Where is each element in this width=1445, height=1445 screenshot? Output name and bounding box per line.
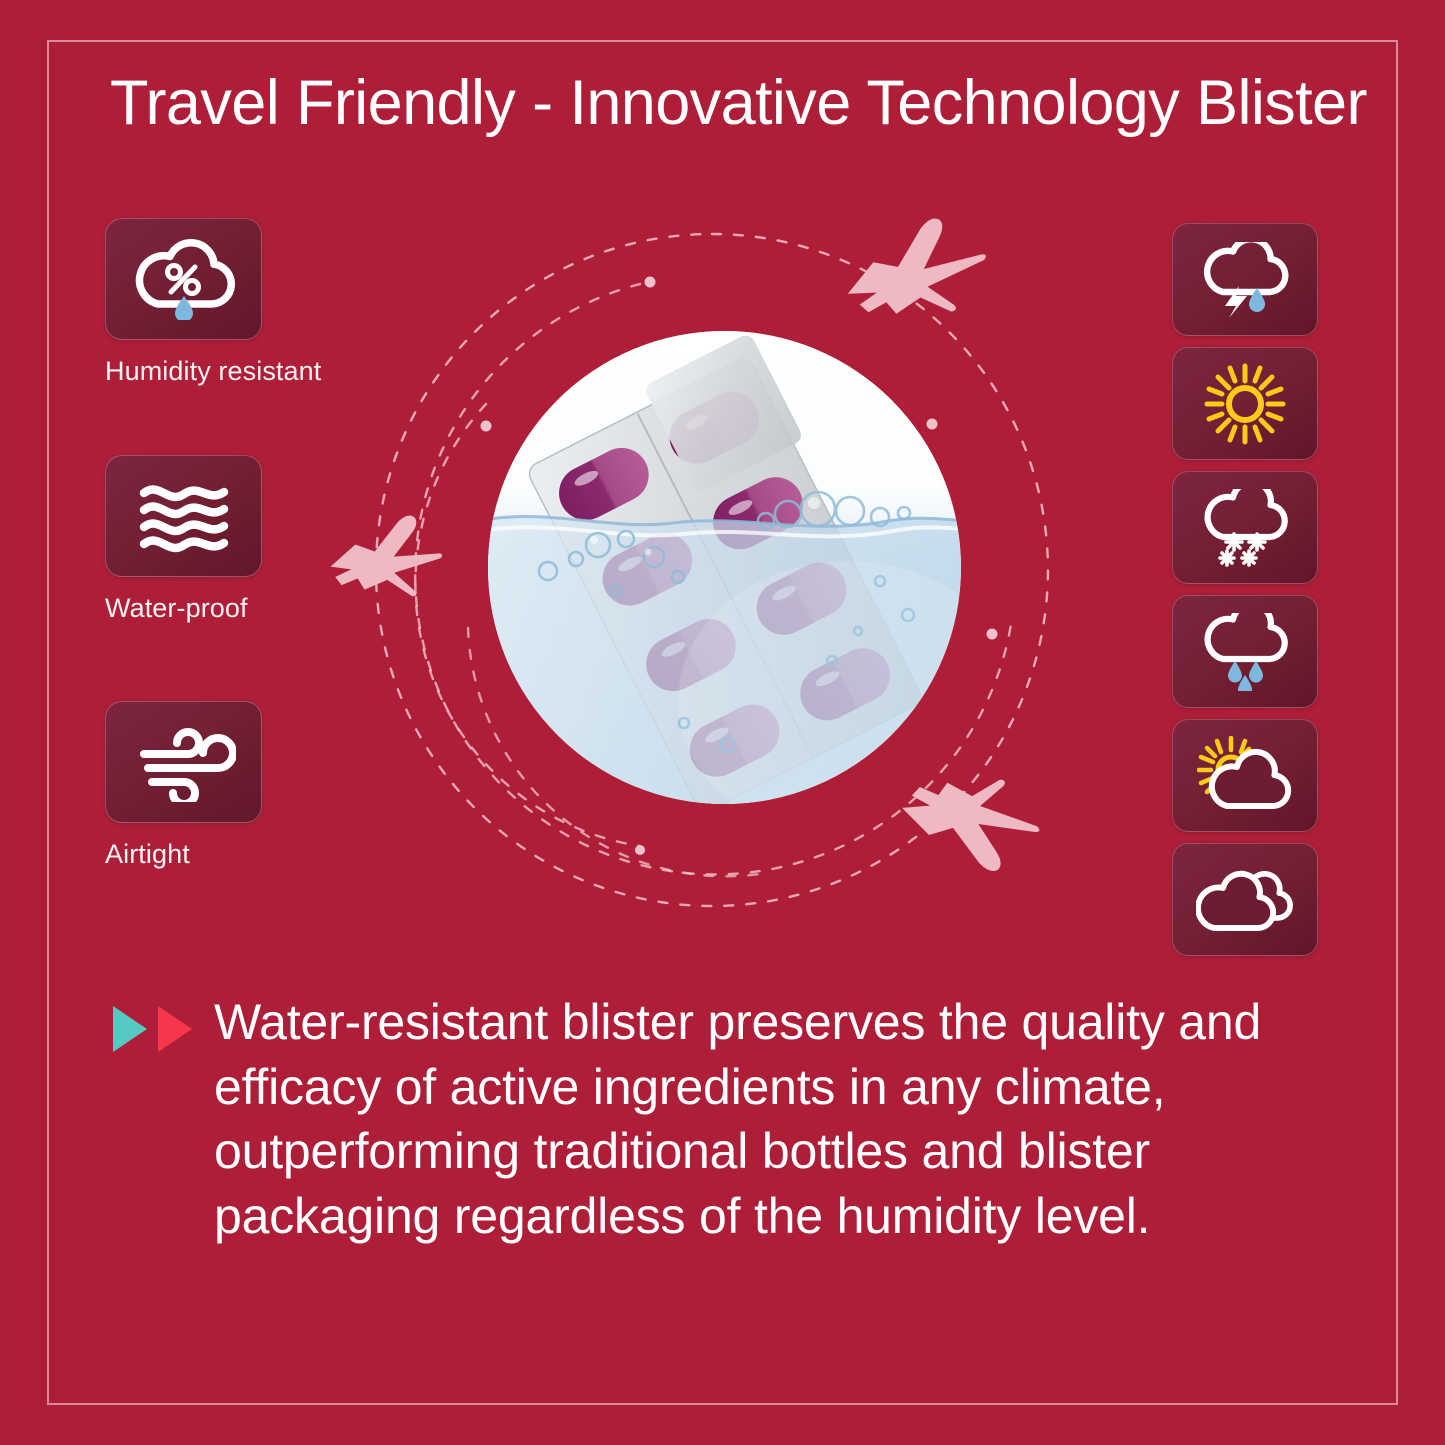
snow-cloud-icon bbox=[1199, 489, 1291, 567]
water-waves-icon-tile bbox=[105, 455, 262, 577]
sun-icon bbox=[1204, 363, 1286, 445]
triangle-bullet-red-icon bbox=[158, 1006, 192, 1052]
airplane-icon bbox=[320, 505, 451, 612]
clouds-icon bbox=[1196, 866, 1294, 934]
summary-block: Water-resistant blister preserves the qu… bbox=[113, 990, 1343, 1248]
triangle-bullet-teal-icon bbox=[113, 1006, 147, 1052]
hero-product-photo bbox=[488, 331, 961, 804]
water-waves-icon bbox=[134, 477, 234, 555]
sun-behind-cloud-icon-tile[interactable] bbox=[1172, 719, 1318, 832]
sun-behind-cloud-icon bbox=[1197, 736, 1293, 816]
hero-illustration bbox=[340, 198, 1085, 943]
weather-conditions-list bbox=[1172, 223, 1318, 956]
blister-in-water-image bbox=[488, 331, 961, 804]
bullet-markers bbox=[113, 1006, 192, 1052]
thunderstorm-rain-icon bbox=[1199, 242, 1291, 318]
rain-cloud-icon bbox=[1199, 613, 1291, 691]
rain-cloud-icon-tile[interactable] bbox=[1172, 595, 1318, 708]
summary-paragraph: Water-resistant blister preserves the qu… bbox=[214, 990, 1294, 1248]
snow-cloud-icon-tile[interactable] bbox=[1172, 471, 1318, 584]
wind-airtight-icon bbox=[132, 722, 236, 802]
sun-icon-tile[interactable] bbox=[1172, 347, 1318, 460]
humidity-cloud-percent-icon bbox=[132, 238, 236, 320]
clouds-icon-tile[interactable] bbox=[1172, 843, 1318, 956]
wind-airtight-icon-tile bbox=[105, 701, 262, 823]
humidity-cloud-percent-icon-tile bbox=[105, 218, 262, 340]
thunderstorm-rain-icon-tile[interactable] bbox=[1172, 223, 1318, 336]
page-title: Travel Friendly - Innovative Technology … bbox=[110, 68, 1360, 139]
